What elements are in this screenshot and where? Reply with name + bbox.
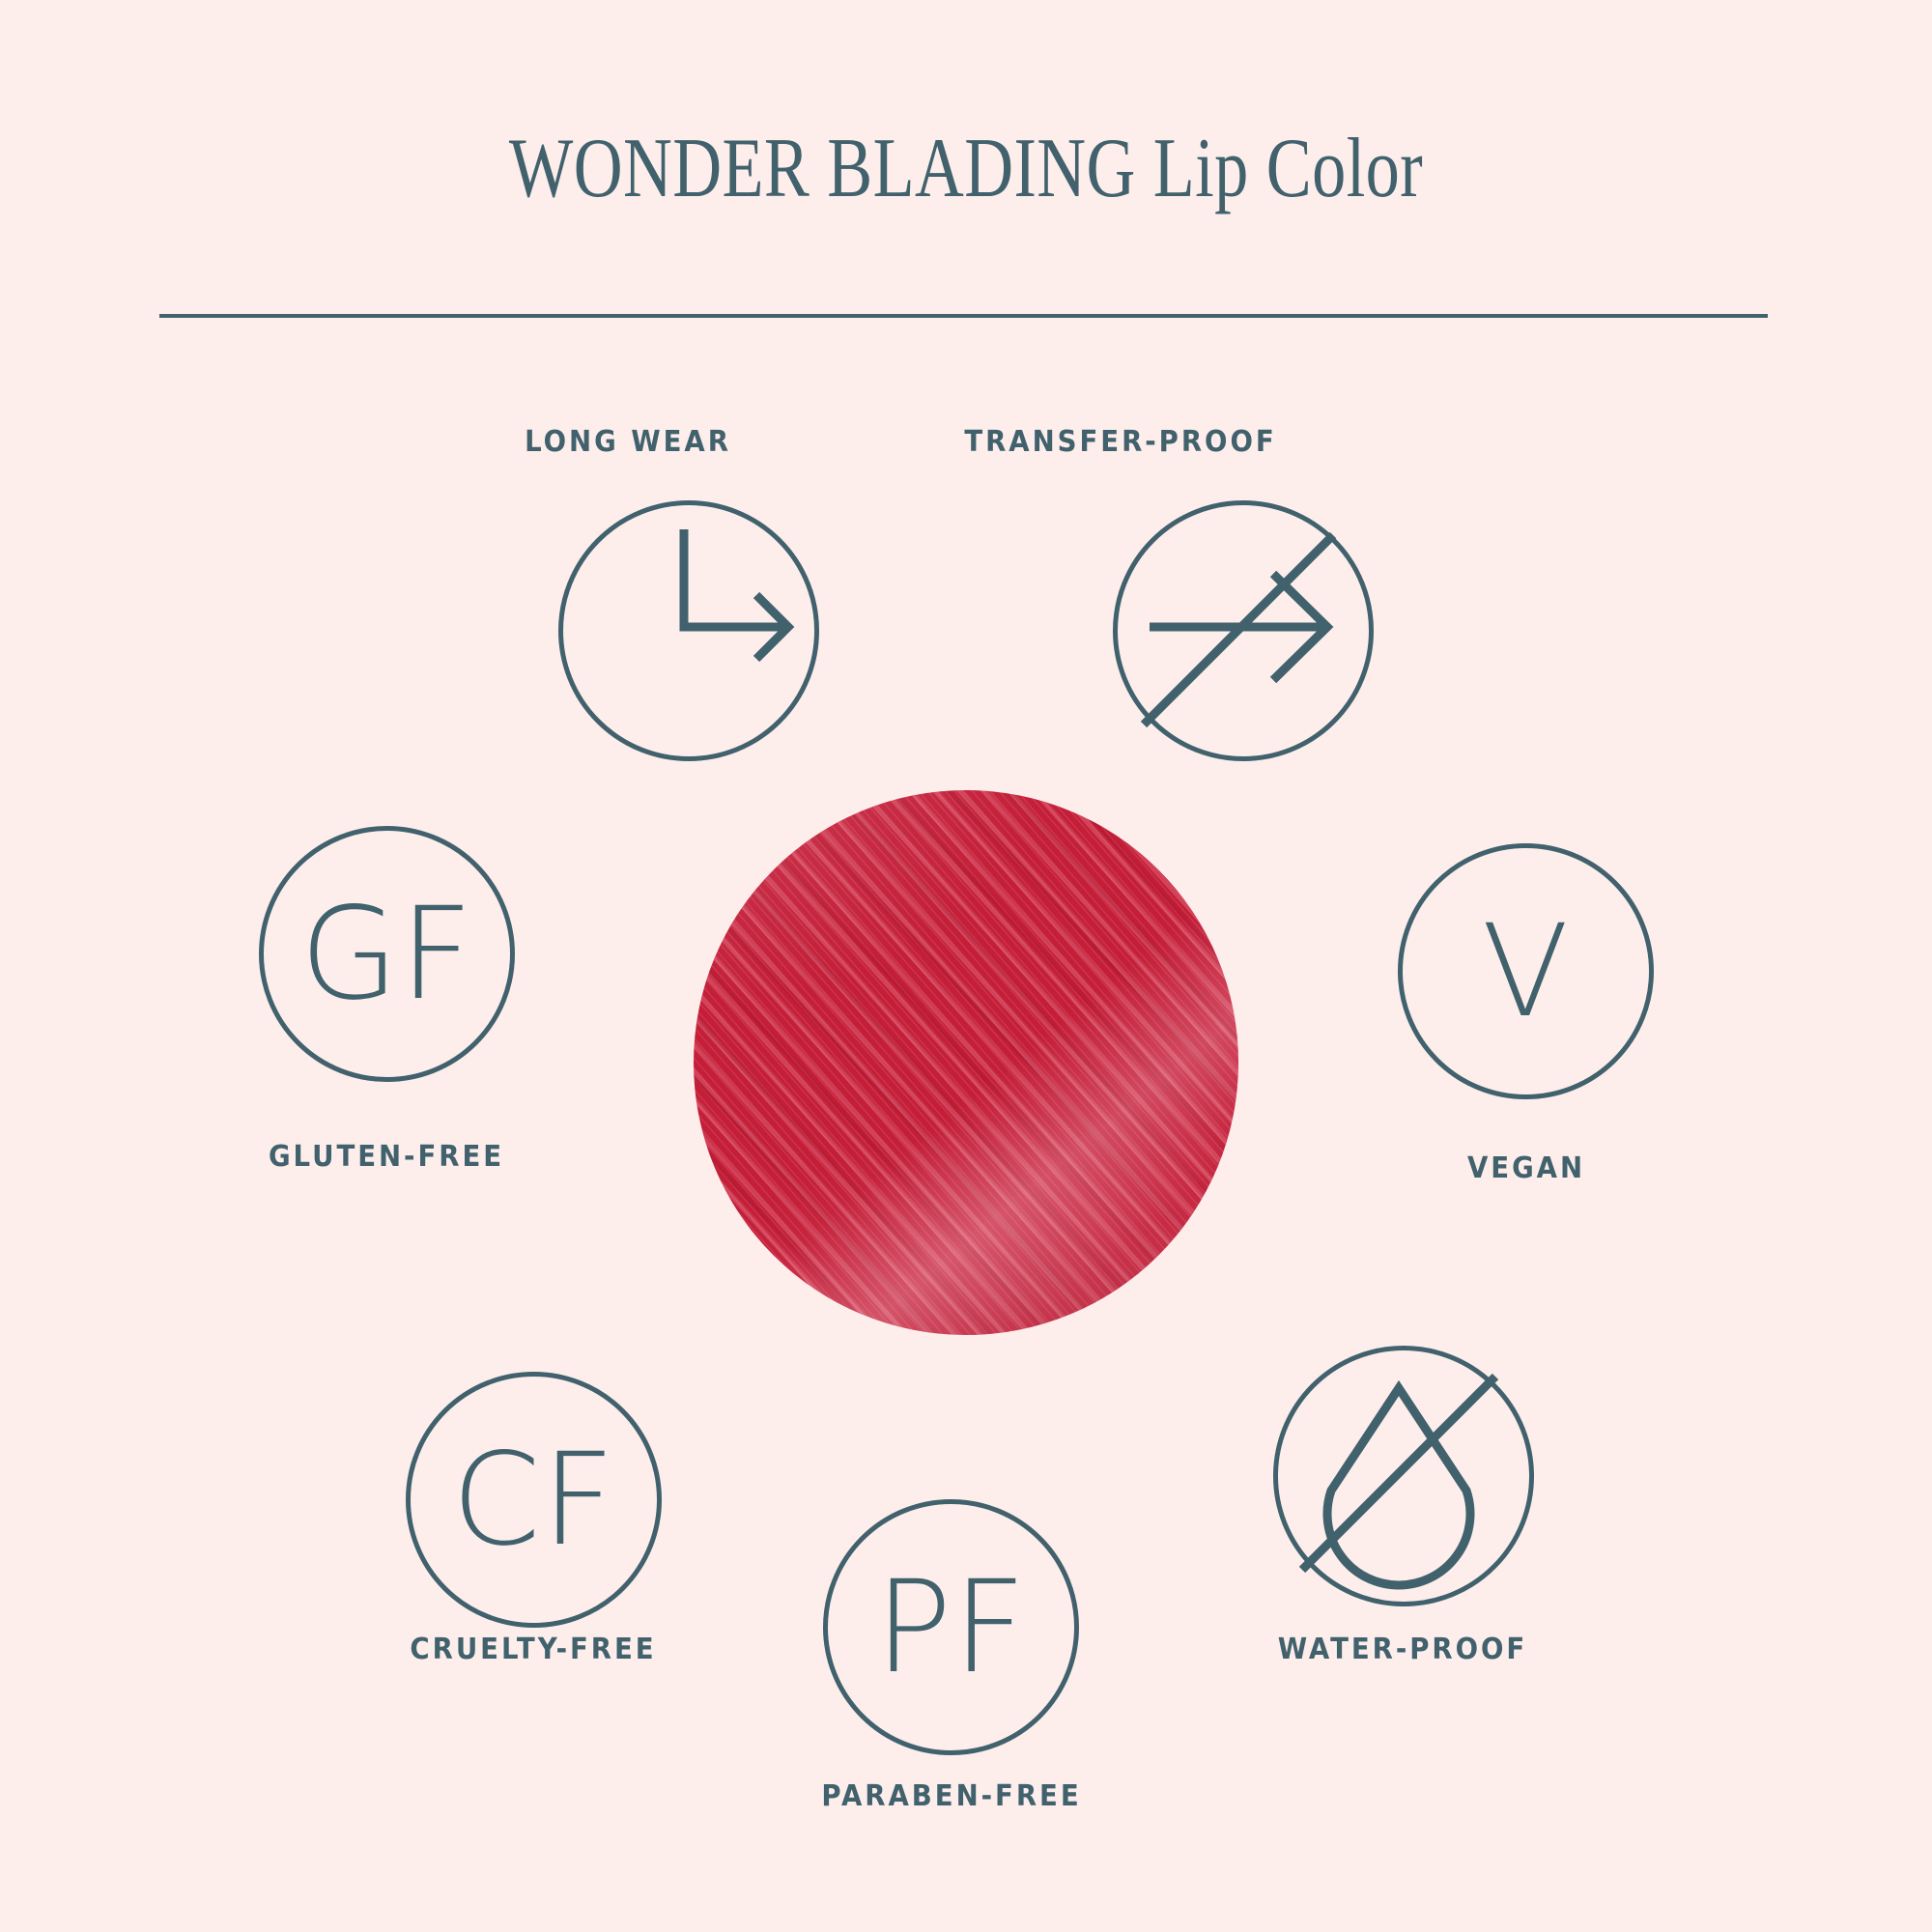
- badge-label-water-proof: WATER-PROOF: [1207, 1633, 1599, 1666]
- page-title: WONDER BLADING Lip Color: [193, 116, 1739, 222]
- cf-monogram-text: CF: [411, 1377, 657, 1623]
- pf-monogram-text: PF: [828, 1504, 1074, 1750]
- v-monogram-icon: V: [1398, 843, 1654, 1099]
- badge-label-long-wear: LONG WEAR: [433, 425, 824, 459]
- badge-label-transfer-proof: TRANSFER-PROOF: [854, 425, 1387, 459]
- cf-monogram-icon: CF: [406, 1372, 662, 1628]
- badge-label-paraben-free: PARABEN-FREE: [756, 1779, 1148, 1813]
- v-monogram-text: V: [1403, 848, 1649, 1094]
- gf-monogram-icon: GF: [259, 826, 515, 1082]
- badge-label-gluten-free: GLUTEN-FREE: [191, 1140, 582, 1174]
- badge-label-vegan: VEGAN: [1331, 1151, 1722, 1185]
- lipstick-color-swatch: [694, 790, 1238, 1335]
- title-divider: [159, 314, 1768, 318]
- no-transfer-arrow-icon: [1113, 500, 1374, 761]
- pf-monogram-icon: PF: [823, 1499, 1079, 1755]
- badge-label-cruelty-free: CRUELTY-FREE: [338, 1633, 729, 1666]
- swatch-texture-highlights: [694, 790, 1238, 1335]
- product-feature-infographic: WONDER BLADING Lip Color LONG WEAR TRANS…: [0, 0, 1932, 1932]
- no-water-droplet-icon: [1273, 1346, 1534, 1606]
- gf-monogram-text: GF: [264, 831, 510, 1077]
- clock-icon: [558, 500, 819, 761]
